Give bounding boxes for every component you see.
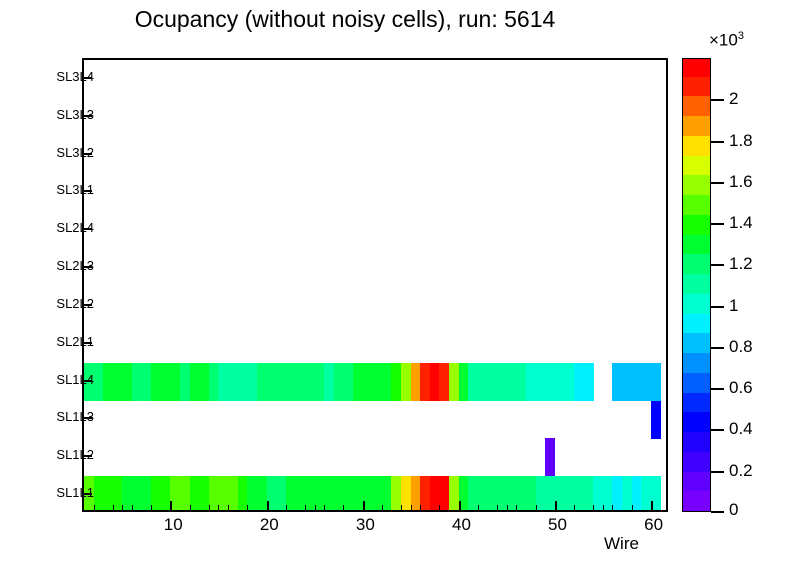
color-scale-band xyxy=(683,372,710,392)
x-axis-tick xyxy=(267,501,269,511)
x-axis-tick-label: 60 xyxy=(624,515,684,535)
color-scale-tick-label: 1 xyxy=(729,296,738,316)
color-scale-band xyxy=(683,58,710,77)
color-scale-tick-label: 1.2 xyxy=(729,254,753,274)
x-axis-tick xyxy=(324,505,325,511)
x-axis-tick xyxy=(286,505,287,511)
color-scale-band xyxy=(683,412,710,432)
occupancy-plot-canvas: Ocupancy (without noisy cells), run: 561… xyxy=(0,0,796,572)
x-axis-tick-label: 50 xyxy=(528,515,588,535)
heatmap-cells xyxy=(84,60,666,510)
x-axis-tick xyxy=(593,505,594,511)
x-axis-tick xyxy=(507,505,508,511)
color-scale-band xyxy=(683,135,710,155)
x-axis-tick xyxy=(603,505,604,511)
color-scale-tick-label: 0.6 xyxy=(729,378,753,398)
y-axis-tick xyxy=(82,153,92,155)
x-axis-tick xyxy=(439,505,440,511)
plot-frame xyxy=(82,58,668,512)
x-axis-tick-label: 10 xyxy=(143,515,203,535)
y-axis-tick xyxy=(82,266,92,268)
color-scale-band xyxy=(683,274,710,294)
color-scale-band xyxy=(683,392,710,412)
heatmap-cell xyxy=(651,363,661,401)
color-scale-tick-label: 2 xyxy=(729,89,738,109)
x-axis-tick xyxy=(218,505,219,511)
color-scale-tick-label: 0.2 xyxy=(729,461,753,481)
x-axis-tick-label: 20 xyxy=(239,515,299,535)
color-scale-tick xyxy=(711,511,724,513)
color-scale-tick xyxy=(711,264,724,266)
x-axis-tick-label: 30 xyxy=(335,515,395,535)
color-scale-band xyxy=(683,234,710,254)
y-axis-tick xyxy=(82,417,92,419)
color-scale-band xyxy=(683,491,710,511)
color-scale-tick-label: 0 xyxy=(729,500,738,520)
x-axis-tick xyxy=(401,505,402,511)
color-scale-band xyxy=(683,175,710,195)
x-axis-tick xyxy=(478,505,479,511)
color-scale-exponent-base: ×10 xyxy=(709,31,738,50)
color-scale-tick xyxy=(711,306,724,308)
x-axis-tick xyxy=(209,505,210,511)
color-scale-tick-label: 1.4 xyxy=(729,213,753,233)
color-scale-band xyxy=(683,116,710,136)
x-axis-tick xyxy=(132,505,133,511)
heatmap-cell xyxy=(545,438,555,476)
color-scale-tick-label: 1.6 xyxy=(729,172,753,192)
x-axis-tick xyxy=(420,505,421,511)
x-axis-tick-label: 40 xyxy=(431,515,491,535)
x-axis-tick xyxy=(113,505,114,511)
x-axis-tick xyxy=(497,505,498,511)
x-axis-tick xyxy=(651,501,653,511)
x-axis-tick xyxy=(151,505,152,511)
color-scale-tick xyxy=(711,471,724,473)
y-axis-tick xyxy=(82,77,92,79)
x-axis-tick xyxy=(170,501,172,511)
color-scale-band xyxy=(683,254,710,274)
color-scale-band xyxy=(683,76,710,96)
color-scale-tick-label: 0.4 xyxy=(729,419,753,439)
y-axis-tick xyxy=(82,342,92,344)
color-scale-tick xyxy=(711,388,724,390)
x-axis-tick xyxy=(516,505,517,511)
color-scale-band xyxy=(683,353,710,373)
y-axis-tick xyxy=(82,304,92,306)
color-scale-tick xyxy=(711,223,724,225)
color-scale-tick xyxy=(711,141,724,143)
y-axis-tick xyxy=(82,455,92,457)
color-scale-tick xyxy=(711,99,724,101)
x-axis-tick xyxy=(632,505,633,511)
color-scale-tick-label: 1.8 xyxy=(729,131,753,151)
color-scale-band xyxy=(683,313,710,333)
x-axis-tick xyxy=(382,505,383,511)
x-axis-tick xyxy=(247,505,248,511)
x-axis-tick xyxy=(612,505,613,511)
y-axis-tick xyxy=(82,493,92,495)
color-scale-band xyxy=(683,471,710,491)
color-scale-tick xyxy=(711,347,724,349)
color-scale-band xyxy=(683,155,710,175)
color-scale-band xyxy=(683,432,710,452)
x-axis-tick xyxy=(555,501,557,511)
color-scale-band xyxy=(683,214,710,234)
y-axis-tick xyxy=(82,115,92,117)
x-axis-tick xyxy=(228,505,229,511)
x-axis-tick xyxy=(574,505,575,511)
x-axis-tick xyxy=(94,505,95,511)
color-scale-exponent: ×103 xyxy=(709,30,744,51)
x-axis-tick xyxy=(305,505,306,511)
x-axis-tick xyxy=(343,505,344,511)
color-scale-tick xyxy=(711,182,724,184)
color-scale-band xyxy=(683,451,710,471)
color-scale-tick xyxy=(711,429,724,431)
color-scale-band xyxy=(683,293,710,313)
x-axis-tick xyxy=(363,501,365,511)
color-scale-exponent-power: 3 xyxy=(738,30,744,42)
y-axis-tick xyxy=(82,190,92,192)
y-axis-tick xyxy=(82,380,92,382)
page-title: Ocupancy (without noisy cells), run: 561… xyxy=(0,6,690,33)
color-scale-band xyxy=(683,195,710,215)
heatmap-cell xyxy=(651,401,661,439)
color-scale-tick-label: 0.8 xyxy=(729,337,753,357)
color-scale-band xyxy=(683,333,710,353)
color-scale-axis: 21.81.61.41.210.80.60.40.20 xyxy=(711,58,791,512)
x-axis-tick xyxy=(190,505,191,511)
y-axis-tick xyxy=(82,228,92,230)
x-axis-title: Wire xyxy=(604,534,639,554)
x-axis-tick xyxy=(411,505,412,511)
x-axis-tick xyxy=(536,505,537,511)
x-axis-tick xyxy=(315,505,316,511)
color-scale-bar xyxy=(682,58,711,512)
x-axis-tick xyxy=(122,505,123,511)
color-scale-band xyxy=(683,96,710,116)
x-axis-tick xyxy=(459,501,461,511)
heatmap-cell xyxy=(584,363,594,401)
